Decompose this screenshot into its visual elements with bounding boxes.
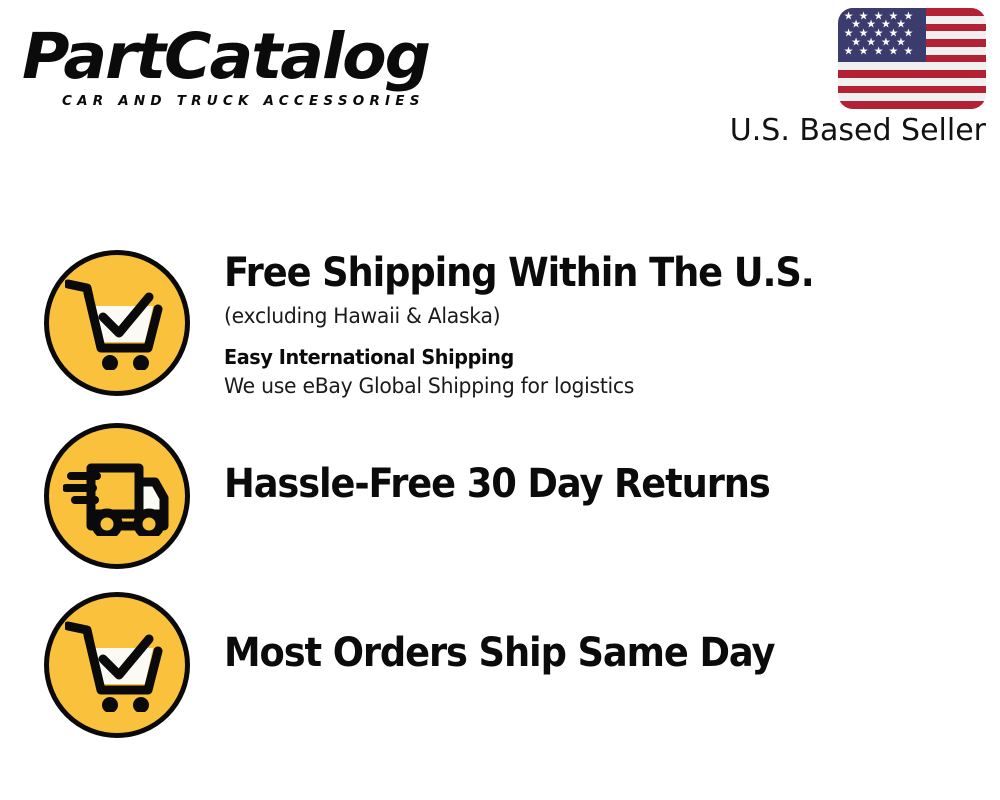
- feature-title: Free Shipping Within The U.S.: [224, 250, 923, 296]
- feature-row: Free Shipping Within The U.S. (excluding…: [44, 250, 984, 400]
- flag-canton: ★ ★ ★ ★ ★ ★ ★ ★ ★ ★ ★ ★ ★ ★ ★ ★ ★ ★ ★ ★: [838, 8, 926, 62]
- us-based-seller-label: U.S. Based Seller: [724, 113, 986, 149]
- brand-wordmark: PartCatalog: [22, 22, 506, 92]
- promo-banner: PartCatalog CAR AND TRUCK ACCESSORIES: [0, 0, 1000, 800]
- feature-text-block: Most Orders Ship Same Day: [190, 592, 984, 676]
- delivery-truck-icon: [44, 423, 190, 569]
- feature-subtitle: (excluding Hawaii & Alaska): [224, 302, 961, 331]
- feature-row: Most Orders Ship Same Day: [44, 592, 984, 738]
- feature-row: Hassle-Free 30 Day Returns: [44, 423, 984, 569]
- us-based-seller-badge: ★ ★ ★ ★ ★ ★ ★ ★ ★ ★ ★ ★ ★ ★ ★ ★ ★ ★ ★ ★: [724, 8, 986, 149]
- feature-text-block: Free Shipping Within The U.S. (excluding…: [190, 250, 984, 400]
- feature-title: Hassle-Free 30 Day Returns: [224, 461, 923, 507]
- feature-sub-detail: We use eBay Global Shipping for logistic…: [224, 372, 961, 400]
- shopping-cart-check-icon: [44, 592, 190, 738]
- brand-tagline: CAR AND TRUCK ACCESSORIES: [62, 93, 492, 109]
- feature-text-block: Hassle-Free 30 Day Returns: [190, 423, 984, 507]
- feature-sub-heading: Easy International Shipping: [224, 344, 954, 371]
- brand-logo: PartCatalog CAR AND TRUCK ACCESSORIES: [22, 22, 492, 118]
- us-flag-icon: ★ ★ ★ ★ ★ ★ ★ ★ ★ ★ ★ ★ ★ ★ ★ ★ ★ ★ ★ ★: [838, 8, 986, 109]
- feature-title: Most Orders Ship Same Day: [224, 630, 923, 676]
- shopping-cart-check-icon: [44, 250, 190, 396]
